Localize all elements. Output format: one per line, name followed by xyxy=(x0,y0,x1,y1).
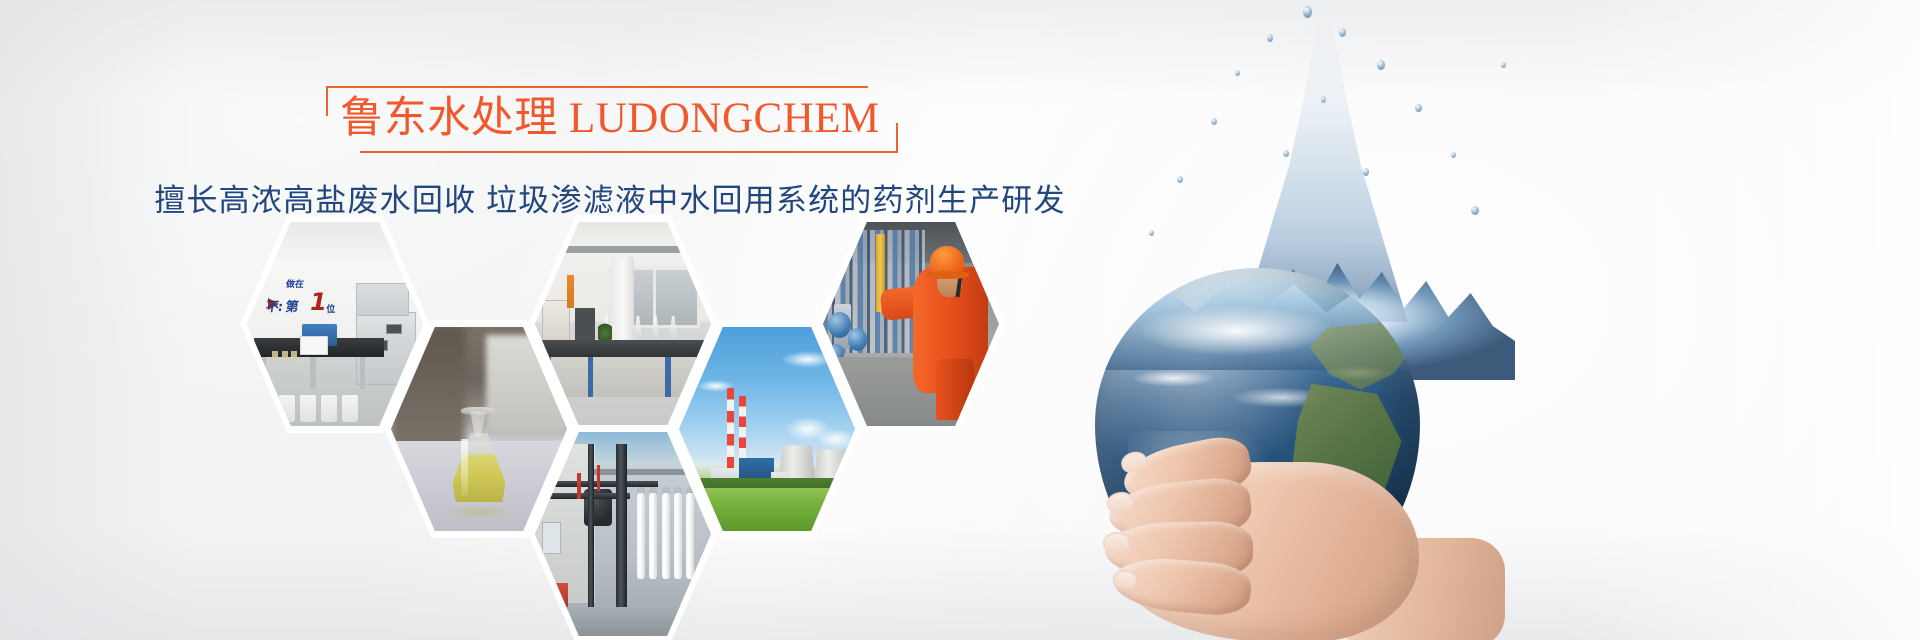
slogan-line-2: 不: 第 xyxy=(265,296,299,315)
hex-image-lab-glassware xyxy=(535,222,711,426)
hex-image-power-plant xyxy=(679,327,855,531)
title-decorative-frame: 鲁东水处理 LUDONGCHEM xyxy=(314,86,906,153)
hex-image-worker xyxy=(823,222,999,426)
cupped-hands xyxy=(1065,400,1485,640)
frame-rule-bottom xyxy=(360,151,898,153)
globe-in-hands-graphic xyxy=(1055,0,1595,640)
wall-slogan-graphic: 做在 不: 第 1 位 xyxy=(266,277,347,322)
scene-plant-worker xyxy=(823,222,999,426)
slogan-unit: 位 xyxy=(326,302,335,315)
frame-rule-left xyxy=(326,86,328,116)
scene-lab-glassware xyxy=(535,222,711,426)
slogan-line-1: 做在 xyxy=(285,277,305,290)
hex-image-ro-skid xyxy=(535,432,711,636)
hex-image-flask xyxy=(391,327,567,531)
headline-block: 鲁东水处理 LUDONGCHEM 擅长高浓高盐废水回收 垃圾渗滤液中水回用系统的… xyxy=(0,86,1220,220)
scene-yellow-flask xyxy=(391,327,567,531)
page-subtitle: 擅长高浓高盐废水回收 垃圾渗滤液中水回用系统的药剂生产研发 xyxy=(0,175,1220,220)
hex-image-lab-slogan: 做在 不: 第 1 位 xyxy=(247,222,423,426)
scene-lab-slogan: 做在 不: 第 1 位 xyxy=(247,222,423,426)
scene-ro-membrane-skid xyxy=(535,432,711,636)
scene-power-plant xyxy=(679,327,855,531)
page-title: 鲁东水处理 LUDONGCHEM xyxy=(340,95,880,143)
frame-rule-top xyxy=(326,86,868,88)
hero-banner: 鲁东水处理 LUDONGCHEM 擅长高浓高盐废水回收 垃圾渗滤液中水回用系统的… xyxy=(0,0,1920,640)
right-edge-glow xyxy=(1560,0,1920,640)
slogan-number: 1 xyxy=(310,288,327,316)
fingernail-ring xyxy=(1103,532,1131,554)
frame-rule-right xyxy=(896,123,898,153)
hex-image-gallery: 做在 不: 第 1 位 xyxy=(240,215,960,635)
